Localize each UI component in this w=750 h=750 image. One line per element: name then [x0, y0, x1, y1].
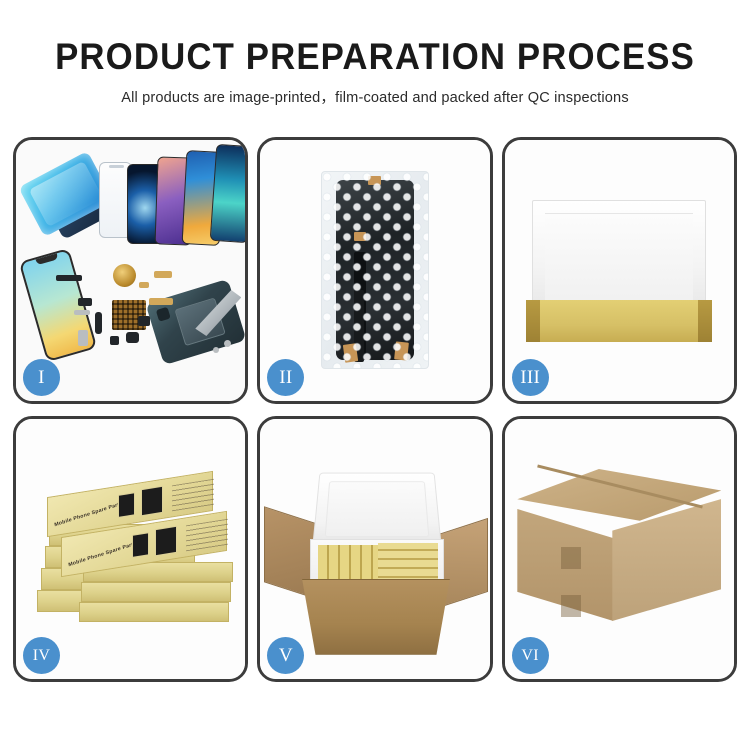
- box-screen-print-icon: [155, 525, 177, 555]
- page-title: PRODUCT PREPARATION PROCESS: [23, 38, 728, 77]
- stacked-boxes-icon: Mobile Phone Spare Parts Mobile Phone Sp…: [31, 462, 231, 652]
- process-step-panel-1[interactable]: I: [13, 137, 248, 404]
- header: PRODUCT PREPARATION PROCESS All products…: [0, 38, 750, 107]
- part-sensor-icon: [110, 336, 119, 345]
- step-badge-4: IV: [23, 637, 60, 674]
- open-carton-icon: [270, 467, 480, 657]
- box-screen-print-icon: [132, 532, 149, 558]
- part-module-icon: [138, 316, 150, 326]
- phone-display-d-icon: [210, 144, 249, 243]
- box-base-icon: [526, 300, 712, 342]
- part-connector-icon: [139, 282, 149, 288]
- screw-icon: [224, 340, 231, 347]
- process-step-panel-2[interactable]: II: [257, 137, 492, 404]
- box-inner-lid-icon: [532, 200, 706, 310]
- speaker-part-icon: [113, 264, 136, 287]
- product-preparation-infographic: PRODUCT PREPARATION PROCESS All products…: [0, 0, 750, 750]
- foam-lid-icon: [312, 472, 442, 547]
- box-label-text: Mobile Phone Spare Parts: [54, 501, 123, 528]
- part-cable-icon: [95, 312, 102, 334]
- process-step-panel-4[interactable]: Mobile Phone Spare Parts Mobile Phone Sp…: [13, 416, 248, 683]
- carton-front-panel: [292, 579, 460, 655]
- stacked-box-item: [79, 602, 229, 622]
- page-subtitle: All products are image-printed，film-coat…: [0, 86, 750, 107]
- process-step-panel-6[interactable]: VI: [502, 416, 737, 683]
- stacked-box-item: [81, 582, 231, 602]
- box-screen-print-icon: [141, 485, 163, 515]
- part-block-icon: [78, 298, 92, 306]
- part-flex-icon: [154, 271, 172, 278]
- step-badge-1: I: [23, 359, 60, 396]
- process-step-panel-3[interactable]: III: [502, 137, 737, 404]
- yellow-boxes-row-icon: [378, 543, 438, 585]
- part-camera-icon: [126, 332, 139, 343]
- step-badge-3: III: [512, 359, 549, 396]
- box-screen-print-icon: [118, 492, 135, 518]
- bubble-texture-icon: [322, 172, 428, 368]
- carton-tape-icon: [561, 547, 581, 569]
- part-strip-icon: [56, 275, 82, 281]
- box-spec-lines: [172, 478, 214, 511]
- screw-icon: [213, 347, 219, 353]
- box-label-text: Mobile Phone Spare Parts: [68, 541, 137, 568]
- part-bracket-icon: [74, 310, 90, 315]
- process-step-panel-5[interactable]: V: [257, 416, 492, 683]
- part-ribbon-icon: [149, 298, 173, 305]
- step-badge-6: VI: [512, 637, 549, 674]
- box-spec-lines: [186, 518, 228, 551]
- carton-tape-icon: [561, 595, 581, 617]
- bubble-wrap-bag-icon: [321, 171, 429, 369]
- step-badge-2: II: [267, 359, 304, 396]
- sealed-carton-icon: [517, 469, 721, 639]
- open-flat-box-icon: [524, 200, 714, 350]
- part-sim-tray-icon: [78, 330, 88, 346]
- process-step-grid: I II: [13, 137, 737, 682]
